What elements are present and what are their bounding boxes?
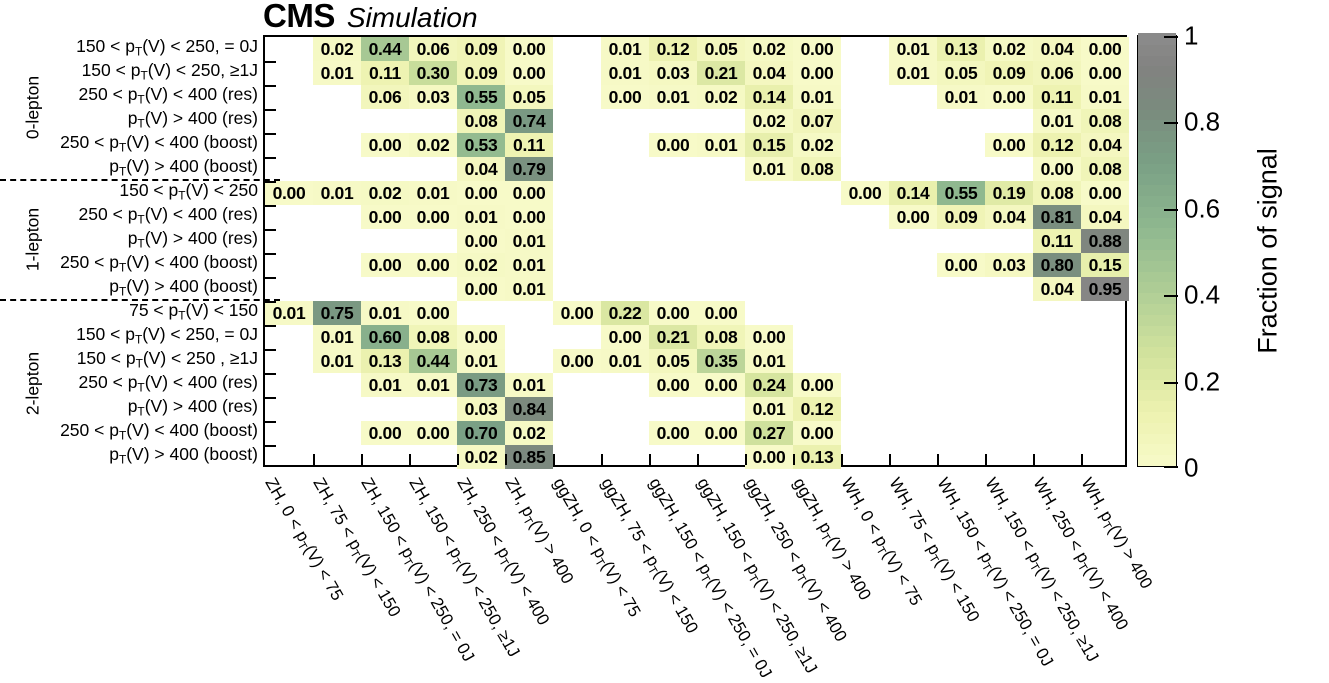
y-axis-tick xyxy=(265,445,276,447)
colorbar-segment xyxy=(1138,422,1176,433)
heatmap-cell: 0.02 xyxy=(505,421,553,445)
x-axis-tick xyxy=(649,454,651,465)
heatmap-cell: 0.00 xyxy=(361,421,409,445)
heatmap-cell: 0.06 xyxy=(361,85,409,109)
y-axis-row-label: 150 < pT(V) < 250, ≥1J xyxy=(82,62,258,82)
heatmap-cell: 0.11 xyxy=(1033,85,1081,109)
colorbar-segment xyxy=(1138,131,1176,142)
y-axis-row-label: 150 < pT(V) < 250 , ≥1J xyxy=(77,350,258,370)
heatmap-cell: 0.08 xyxy=(793,157,841,181)
heatmap-cell: 0.55 xyxy=(937,181,985,205)
heatmap-cell: 0.00 xyxy=(937,253,985,277)
heatmap-cell: 0.01 xyxy=(889,37,937,61)
colorbar-segment xyxy=(1138,249,1176,260)
cms-header: CMS Simulation xyxy=(263,0,478,35)
y-axis-row-label: pT(V) > 400 (res) xyxy=(128,230,258,250)
colorbar-segment xyxy=(1138,303,1176,314)
y-axis-tick xyxy=(265,373,276,375)
x-axis-tick xyxy=(697,454,699,465)
heatmap-cell: 0.73 xyxy=(457,373,505,397)
heatmap-cell: 0.00 xyxy=(505,61,553,85)
heatmap-cell: 0.08 xyxy=(1081,157,1129,181)
colorbar-segment xyxy=(1138,368,1176,379)
heatmap-cell: 0.03 xyxy=(985,253,1033,277)
colorbar-segment xyxy=(1138,271,1176,282)
y-axis-tick xyxy=(265,277,276,279)
y-axis-row-label: 250 < pT(V) < 400 (res) xyxy=(79,374,258,394)
heatmap-cell: 0.06 xyxy=(409,37,457,61)
heatmap-cell: 0.02 xyxy=(985,37,1033,61)
colorbar-segment xyxy=(1138,282,1176,293)
simulation-label: Simulation xyxy=(347,2,478,34)
x-axis-tick xyxy=(841,454,843,465)
heatmap-cell: 0.01 xyxy=(313,61,361,85)
colorbar-segment xyxy=(1138,77,1176,88)
heatmap-cell: 0.00 xyxy=(457,277,505,301)
colorbar-tick xyxy=(1164,382,1178,384)
heatmap-cell: 0.05 xyxy=(505,85,553,109)
heatmap-cell: 0.00 xyxy=(697,301,745,325)
y-axis-tick xyxy=(265,229,276,231)
heatmap-cell: 0.13 xyxy=(793,445,841,469)
colorbar-segment xyxy=(1138,163,1176,174)
heatmap-cell: 0.14 xyxy=(745,85,793,109)
heatmap-cell: 0.01 xyxy=(313,181,361,205)
y-axis-tick xyxy=(265,349,276,351)
heatmap-cell: 0.13 xyxy=(937,37,985,61)
colorbar-segment xyxy=(1138,55,1176,66)
heatmap-cell: 0.04 xyxy=(1033,277,1081,301)
heatmap-cell: 0.21 xyxy=(697,61,745,85)
heatmap-cell: 0.01 xyxy=(793,85,841,109)
heatmap-cell: 0.08 xyxy=(1081,109,1129,133)
heatmap-cell: 0.01 xyxy=(505,373,553,397)
heatmap-cell: 0.01 xyxy=(697,133,745,157)
y-axis-row-label: 250 < pT(V) < 400 (boost) xyxy=(60,254,258,274)
heatmap-cell: 0.70 xyxy=(457,421,505,445)
lepton-group-separator xyxy=(0,179,280,181)
heatmap-cell: 0.00 xyxy=(841,181,889,205)
heatmap-cell: 0.60 xyxy=(361,325,409,349)
heatmap-cell: 0.08 xyxy=(409,325,457,349)
heatmap-cell: 0.01 xyxy=(1081,85,1129,109)
heatmap-cell: 0.84 xyxy=(505,397,553,421)
heatmap-cell: 0.27 xyxy=(745,421,793,445)
heatmap-cell: 0.00 xyxy=(649,301,697,325)
colorbar-segment xyxy=(1138,185,1176,196)
heatmap-cell: 0.09 xyxy=(457,61,505,85)
cms-logo-label: CMS xyxy=(263,0,335,35)
colorbar-segment xyxy=(1138,444,1176,455)
heatmap-cell: 0.04 xyxy=(457,157,505,181)
heatmap-cell: 0.95 xyxy=(1081,277,1129,301)
heatmap-cell: 0.11 xyxy=(505,133,553,157)
colorbar-segment xyxy=(1138,217,1176,228)
x-axis-tick xyxy=(1081,454,1083,465)
heatmap-cell: 0.01 xyxy=(505,277,553,301)
heatmap-cell: 0.01 xyxy=(937,85,985,109)
y-axis-row-label: pT(V) > 400 (res) xyxy=(128,110,258,130)
heatmap-cell: 0.00 xyxy=(697,373,745,397)
x-axis-tick xyxy=(409,454,411,465)
colorbar-segment xyxy=(1138,228,1176,239)
heatmap-cell: 0.03 xyxy=(649,61,697,85)
y-axis-tick xyxy=(265,133,276,135)
colorbar-segment xyxy=(1138,87,1176,98)
heatmap-cell: 0.00 xyxy=(697,421,745,445)
heatmap-cell: 0.75 xyxy=(313,301,361,325)
y-axis-row-label: pT(V) > 400 (res) xyxy=(128,398,258,418)
heatmap-cell: 0.44 xyxy=(409,349,457,373)
heatmap-cell: 0.00 xyxy=(505,181,553,205)
y-axis-row-label: pT(V) > 400 (boost) xyxy=(109,158,258,178)
colorbar-segment xyxy=(1138,336,1176,347)
heatmap-cell: 0.05 xyxy=(649,349,697,373)
heatmap-cell: 0.74 xyxy=(505,109,553,133)
heatmap-cell: 0.04 xyxy=(745,61,793,85)
colorbar-segment xyxy=(1138,433,1176,444)
heatmap-cell: 0.08 xyxy=(1033,181,1081,205)
heatmap-cell: 0.00 xyxy=(1081,37,1129,61)
heatmap-cell: 0.02 xyxy=(745,109,793,133)
colorbar-segment xyxy=(1138,152,1176,163)
colorbar-segment xyxy=(1138,390,1176,401)
colorbar-tick-label: 0.8 xyxy=(1184,107,1220,138)
y-axis-row-label: 150 < pT(V) < 250, = 0J xyxy=(76,326,258,346)
heatmap-cell: 0.00 xyxy=(745,325,793,349)
heatmap-cell: 0.00 xyxy=(409,301,457,325)
heatmap-cell: 0.02 xyxy=(697,85,745,109)
colorbar-segment xyxy=(1138,455,1176,466)
heatmap-cell: 0.00 xyxy=(553,349,601,373)
x-axis-labels: ZH, 0 < pT(V) < 75ZH, 75 < pT(V) < 150ZH… xyxy=(0,467,1329,663)
x-axis-column-label: ggZH, 0 < pT(V) < 75 xyxy=(547,475,644,622)
colorbar: 00.20.40.60.81 xyxy=(1137,35,1177,467)
heatmap-cell: 0.22 xyxy=(601,301,649,325)
x-axis-tick xyxy=(937,454,939,465)
y-axis-tick xyxy=(265,301,276,303)
colorbar-segment xyxy=(1138,357,1176,368)
x-axis-tick xyxy=(889,454,891,465)
heatmap-cell: 0.04 xyxy=(985,205,1033,229)
figure-root: CMS Simulation 150 < pT(V) < 250, = 0J15… xyxy=(0,0,1329,663)
x-axis-tick xyxy=(601,454,603,465)
y-axis-tick xyxy=(265,181,276,183)
heatmap-cell: 0.14 xyxy=(889,181,937,205)
heatmap-cell: 0.01 xyxy=(457,349,505,373)
heatmap-cell: 0.00 xyxy=(889,205,937,229)
heatmap-cell: 0.07 xyxy=(793,109,841,133)
heatmap-cell: 0.00 xyxy=(553,301,601,325)
heatmap-cell: 0.44 xyxy=(361,37,409,61)
heatmap-cell: 0.00 xyxy=(1081,181,1129,205)
colorbar-tick xyxy=(1164,295,1178,297)
heatmap-cell: 0.01 xyxy=(361,301,409,325)
colorbar-segment xyxy=(1138,66,1176,77)
x-axis-tick xyxy=(505,454,507,465)
colorbar-segment xyxy=(1138,141,1176,152)
heatmap-cell: 0.85 xyxy=(505,445,553,469)
heatmap-cell: 0.12 xyxy=(649,37,697,61)
heatmap-cell: 0.01 xyxy=(505,253,553,277)
heatmap-cell: 0.09 xyxy=(937,205,985,229)
colorbar-segment xyxy=(1138,401,1176,412)
heatmap-cell: 0.00 xyxy=(265,181,313,205)
y-axis-tick xyxy=(265,253,276,255)
heatmap-cell: 0.00 xyxy=(601,85,649,109)
heatmap-cell: 0.88 xyxy=(1081,229,1129,253)
heatmap-cell: 0.01 xyxy=(265,301,313,325)
y-axis-tick xyxy=(265,325,276,327)
lepton-group-label: 0-lepton xyxy=(23,68,44,148)
heatmap-cell: 0.15 xyxy=(1081,253,1129,277)
lepton-group-separator xyxy=(0,299,280,301)
colorbar-tick xyxy=(1164,466,1178,468)
heatmap-cell: 0.02 xyxy=(361,181,409,205)
y-axis-row-label: 75 < pT(V) < 150 xyxy=(129,302,258,322)
heatmap-cell: 0.01 xyxy=(409,181,457,205)
heatmap-cell: 0.00 xyxy=(793,373,841,397)
heatmap-cell: 0.00 xyxy=(409,253,457,277)
heatmap-cell: 0.00 xyxy=(745,445,793,469)
colorbar-tick-label: 0 xyxy=(1184,453,1198,484)
heatmap-cell: 0.02 xyxy=(457,445,505,469)
heatmap-cell: 0.01 xyxy=(889,61,937,85)
colorbar-segment xyxy=(1138,411,1176,422)
y-axis-tick xyxy=(265,109,276,111)
heatmap-cell: 0.00 xyxy=(505,205,553,229)
y-axis-row-label: pT(V) > 400 (boost) xyxy=(109,446,258,466)
heatmap-cell: 0.01 xyxy=(1033,109,1081,133)
heatmap-cell: 0.04 xyxy=(1081,133,1129,157)
y-axis-row-label: 250 < pT(V) < 400 (res) xyxy=(79,86,258,106)
lepton-group-label: 2-lepton xyxy=(23,344,44,424)
colorbar-tick xyxy=(1164,36,1178,38)
heatmap-cell: 0.02 xyxy=(457,253,505,277)
x-axis-tick xyxy=(1033,454,1035,465)
heatmap-cell: 0.01 xyxy=(601,61,649,85)
heatmap-cell: 0.00 xyxy=(361,133,409,157)
colorbar-segment xyxy=(1138,260,1176,271)
heatmap-cells: 0.020.440.060.090.000.010.120.050.020.00… xyxy=(265,37,1125,465)
heatmap-cell: 0.04 xyxy=(1033,37,1081,61)
heatmap-cell: 0.03 xyxy=(409,85,457,109)
y-axis-tick xyxy=(265,205,276,207)
colorbar-segment xyxy=(1138,314,1176,325)
x-axis-tick xyxy=(985,454,987,465)
heatmap-cell: 0.00 xyxy=(985,85,1033,109)
heatmap-cell: 0.00 xyxy=(361,253,409,277)
heatmap-cell: 0.01 xyxy=(313,325,361,349)
x-axis-tick xyxy=(361,454,363,465)
heatmap-cell: 0.00 xyxy=(649,373,697,397)
colorbar-segment xyxy=(1138,109,1176,120)
heatmap-cell: 0.00 xyxy=(409,205,457,229)
heatmap-cell: 0.15 xyxy=(745,133,793,157)
heatmap-cell: 0.02 xyxy=(313,37,361,61)
heatmap-cell: 0.11 xyxy=(1033,229,1081,253)
heatmap-cell: 0.11 xyxy=(361,61,409,85)
heatmap-cell: 0.01 xyxy=(745,349,793,373)
colorbar-tick-label: 0.2 xyxy=(1184,366,1220,397)
colorbar-segment xyxy=(1138,98,1176,109)
heatmap-cell: 0.00 xyxy=(1081,61,1129,85)
heatmap-cell: 0.21 xyxy=(649,325,697,349)
colorbar-tick-label: 1 xyxy=(1184,21,1198,52)
heatmap-cell: 0.00 xyxy=(1033,157,1081,181)
heatmap-cell: 0.55 xyxy=(457,85,505,109)
heatmap-cell: 0.01 xyxy=(601,37,649,61)
y-axis-row-label: 250 < pT(V) < 400 (boost) xyxy=(60,134,258,154)
colorbar-tick xyxy=(1164,122,1178,124)
x-axis-tick xyxy=(745,454,747,465)
y-axis-row-label: 150 < pT(V) < 250 xyxy=(119,182,258,202)
colorbar-segment xyxy=(1138,174,1176,185)
heatmap-cell: 0.30 xyxy=(409,61,457,85)
colorbar-tick xyxy=(1164,209,1178,211)
heatmap-cell: 0.53 xyxy=(457,133,505,157)
heatmap-cell: 0.79 xyxy=(505,157,553,181)
y-axis-tick xyxy=(265,85,276,87)
y-axis-tick xyxy=(265,157,276,159)
heatmap-cell: 0.00 xyxy=(505,37,553,61)
lepton-group-label: 1-lepton xyxy=(23,200,44,280)
heatmap-cell: 0.81 xyxy=(1033,205,1081,229)
y-axis-tick xyxy=(265,421,276,423)
heatmap-cell: 0.00 xyxy=(457,181,505,205)
heatmap-cell: 0.00 xyxy=(985,133,1033,157)
heatmap-cell: 0.00 xyxy=(601,325,649,349)
y-axis-row-label: 150 < pT(V) < 250, = 0J xyxy=(76,38,258,58)
heatmap-cell: 0.00 xyxy=(361,205,409,229)
heatmap-cell: 0.01 xyxy=(745,397,793,421)
heatmap-cell: 0.00 xyxy=(457,325,505,349)
heatmap-cell: 0.01 xyxy=(409,373,457,397)
y-axis-row-label: pT(V) > 400 (boost) xyxy=(109,278,258,298)
colorbar-segment xyxy=(1138,239,1176,250)
heatmap-cell: 0.01 xyxy=(361,373,409,397)
heatmap-cell: 0.06 xyxy=(1033,61,1081,85)
colorbar-tick-label: 0.6 xyxy=(1184,193,1220,224)
heatmap-plot-area: 0.020.440.060.090.000.010.120.050.020.00… xyxy=(263,35,1127,467)
heatmap-cell: 0.00 xyxy=(649,421,697,445)
x-axis-tick xyxy=(793,454,795,465)
x-axis-tick xyxy=(457,454,459,465)
heatmap-cell: 0.09 xyxy=(457,37,505,61)
colorbar-segment xyxy=(1138,44,1176,55)
heatmap-cell: 0.00 xyxy=(649,133,697,157)
colorbar-tick-label: 0.4 xyxy=(1184,280,1220,311)
y-axis-labels: 150 < pT(V) < 250, = 0J150 < pT(V) < 250… xyxy=(0,35,258,467)
x-axis-tick xyxy=(313,454,315,465)
heatmap-cell: 0.05 xyxy=(937,61,985,85)
y-axis-row-label: 250 < pT(V) < 400 (res) xyxy=(79,206,258,226)
heatmap-cell: 0.05 xyxy=(697,37,745,61)
heatmap-cell: 0.08 xyxy=(457,109,505,133)
y-axis-tick xyxy=(265,61,276,63)
heatmap-cell: 0.13 xyxy=(361,349,409,373)
x-axis-tick xyxy=(553,454,555,465)
heatmap-cell: 0.00 xyxy=(793,37,841,61)
heatmap-cell: 0.01 xyxy=(649,85,697,109)
heatmap-cell: 0.00 xyxy=(793,421,841,445)
heatmap-cell: 0.01 xyxy=(601,349,649,373)
heatmap-cell: 0.02 xyxy=(745,37,793,61)
heatmap-cell: 0.03 xyxy=(457,397,505,421)
heatmap-cell: 0.02 xyxy=(409,133,457,157)
heatmap-cell: 0.04 xyxy=(1081,205,1129,229)
colorbar-segment xyxy=(1138,347,1176,358)
heatmap-cell: 0.09 xyxy=(985,61,1033,85)
y-axis-row-label: 250 < pT(V) < 400 (boost) xyxy=(60,422,258,442)
colorbar-segment xyxy=(1138,195,1176,206)
heatmap-cell: 0.08 xyxy=(697,325,745,349)
heatmap-cell: 0.01 xyxy=(457,205,505,229)
heatmap-cell: 0.02 xyxy=(793,133,841,157)
colorbar-title: Fraction of signal xyxy=(1253,148,1284,354)
heatmap-cell: 0.01 xyxy=(505,229,553,253)
heatmap-cell: 0.01 xyxy=(745,157,793,181)
heatmap-cell: 0.00 xyxy=(793,61,841,85)
heatmap-cell: 0.00 xyxy=(457,229,505,253)
heatmap-cell: 0.00 xyxy=(409,421,457,445)
colorbar-segment xyxy=(1138,325,1176,336)
y-axis-tick xyxy=(265,397,276,399)
heatmap-cell: 0.35 xyxy=(697,349,745,373)
heatmap-cell: 0.12 xyxy=(793,397,841,421)
heatmap-cell: 0.12 xyxy=(1033,133,1081,157)
heatmap-cell: 0.19 xyxy=(985,181,1033,205)
heatmap-cell: 0.24 xyxy=(745,373,793,397)
x-axis-column-label: ZH, 75 < pT(V) < 150 xyxy=(307,475,404,622)
heatmap-cell: 0.01 xyxy=(313,349,361,373)
heatmap-cell: 0.80 xyxy=(1033,253,1081,277)
